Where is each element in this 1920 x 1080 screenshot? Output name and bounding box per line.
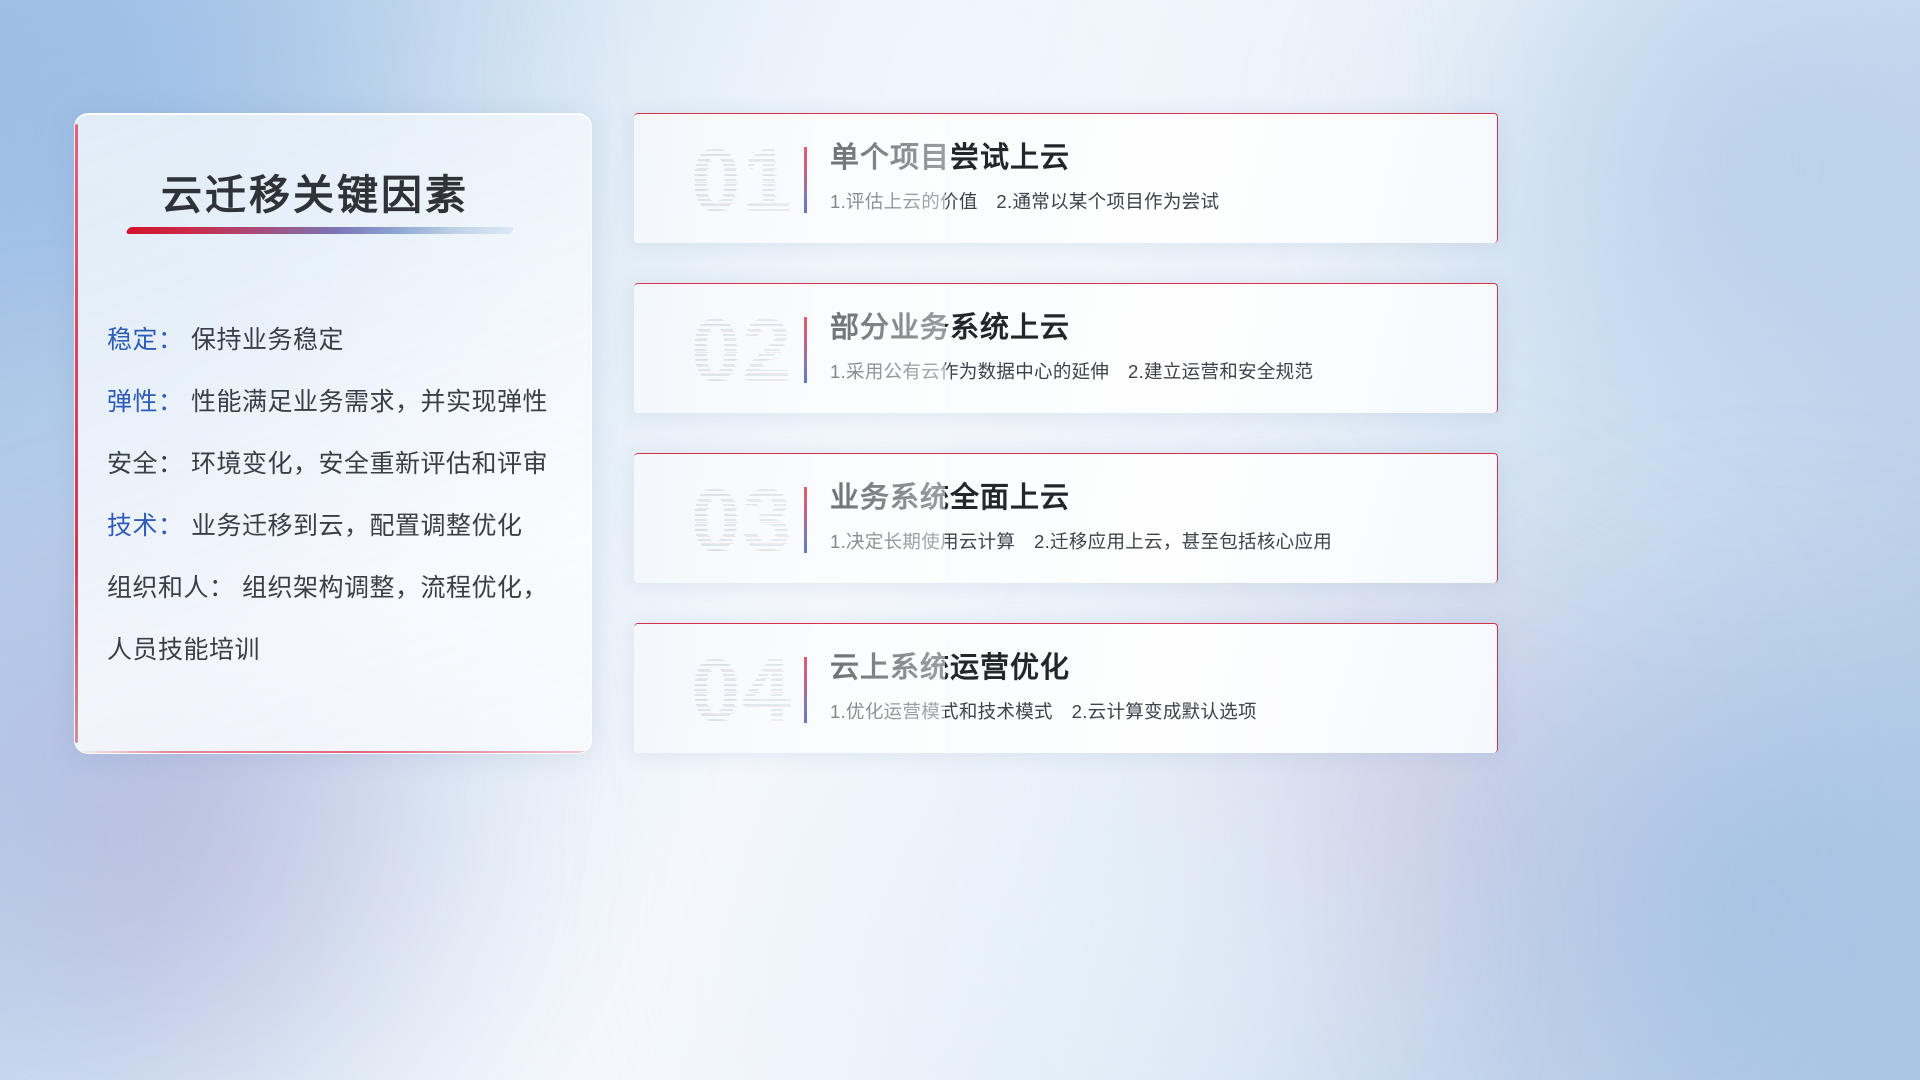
stage-text-group: 云上系统运营优化 1.优化运营模式和技术模式 2.云计算变成默认选项: [830, 648, 1477, 725]
list-item: 组织和人： 组织架构调整，流程优化，: [107, 557, 573, 619]
stage-text-group: 部分业务系统上云 1.采用公有云作为数据中心的延伸 2.建立运营和安全规范: [830, 308, 1477, 385]
stage-card-03[interactable]: 03 03 业务系统全面上云 1.决定长期使用云计算 2.迁移应用上云，甚至包括…: [634, 453, 1498, 583]
stage-number: 02: [658, 294, 826, 406]
factor-value-continuation: 人员技能培训: [107, 619, 573, 681]
stage-number: 01: [658, 124, 826, 236]
list-item: 稳定： 保持业务稳定: [107, 309, 573, 371]
factor-value: 性能满足业务需求，并实现弹性: [191, 388, 548, 416]
factor-label: 稳定：: [107, 326, 184, 354]
stage-title: 部分业务系统上云: [830, 308, 1477, 348]
factor-label: 安全：: [107, 450, 184, 478]
stage-subtitle: 1.优化运营模式和技术模式 2.云计算变成默认选项: [830, 699, 1477, 725]
list-item: 弹性： 性能满足业务需求，并实现弹性: [107, 371, 573, 433]
factor-value: 保持业务稳定: [191, 326, 344, 354]
stage-title: 云上系统运营优化: [830, 648, 1477, 688]
stage-number: 04: [658, 634, 826, 746]
stage-divider: [804, 487, 807, 553]
factor-value: 组织架构调整，流程优化，: [242, 574, 548, 602]
stage-divider: [804, 317, 807, 383]
stage-text-group: 单个项目尝试上云 1.评估上云的价值 2.通常以某个项目作为尝试: [830, 138, 1477, 215]
stage-subtitle: 1.采用公有云作为数据中心的延伸 2.建立运营和安全规范: [830, 359, 1477, 385]
key-factors-list: 稳定： 保持业务稳定 弹性： 性能满足业务需求，并实现弹性 安全： 环境变化，安…: [107, 309, 573, 681]
title-underline-accent: [125, 227, 514, 234]
stage-title: 单个项目尝试上云: [830, 138, 1477, 178]
stage-number: 03: [658, 464, 826, 576]
factor-label: 组织和人：: [107, 574, 235, 602]
stage-title: 业务系统全面上云: [830, 478, 1477, 518]
factor-value: 业务迁移到云，配置调整优化: [191, 512, 523, 540]
page-title: 云迁移关键因素: [161, 161, 469, 221]
factor-value: 环境变化，安全重新评估和评审: [191, 450, 548, 478]
stage-card-01[interactable]: 01 01 单个项目尝试上云 1.评估上云的价值 2.通常以某个项目作为尝试: [634, 113, 1498, 243]
key-factors-panel: 云迁移关键因素 稳定： 保持业务稳定 弹性： 性能满足业务需求，并实现弹性 安全…: [74, 113, 592, 754]
list-item: 技术： 业务迁移到云，配置调整优化: [107, 495, 573, 557]
stage-subtitle: 1.决定长期使用云计算 2.迁移应用上云，甚至包括核心应用: [830, 529, 1477, 555]
stage-subtitle: 1.评估上云的价值 2.通常以某个项目作为尝试: [830, 189, 1477, 215]
slide-stage: 云迁移关键因素 稳定： 保持业务稳定 弹性： 性能满足业务需求，并实现弹性 安全…: [0, 0, 1920, 1080]
stage-card-02[interactable]: 02 02 部分业务系统上云 1.采用公有云作为数据中心的延伸 2.建立运营和安…: [634, 283, 1498, 413]
stage-divider: [804, 147, 807, 213]
stage-card-04[interactable]: 04 04 云上系统运营优化 1.优化运营模式和技术模式 2.云计算变成默认选项: [634, 623, 1498, 753]
factor-label: 弹性：: [107, 388, 184, 416]
stage-text-group: 业务系统全面上云 1.决定长期使用云计算 2.迁移应用上云，甚至包括核心应用: [830, 478, 1477, 555]
migration-stages-list: 01 01 单个项目尝试上云 1.评估上云的价值 2.通常以某个项目作为尝试 0…: [634, 113, 1498, 793]
factor-label: 技术：: [107, 512, 184, 540]
stage-divider: [804, 657, 807, 723]
list-item: 安全： 环境变化，安全重新评估和评审: [107, 433, 573, 495]
